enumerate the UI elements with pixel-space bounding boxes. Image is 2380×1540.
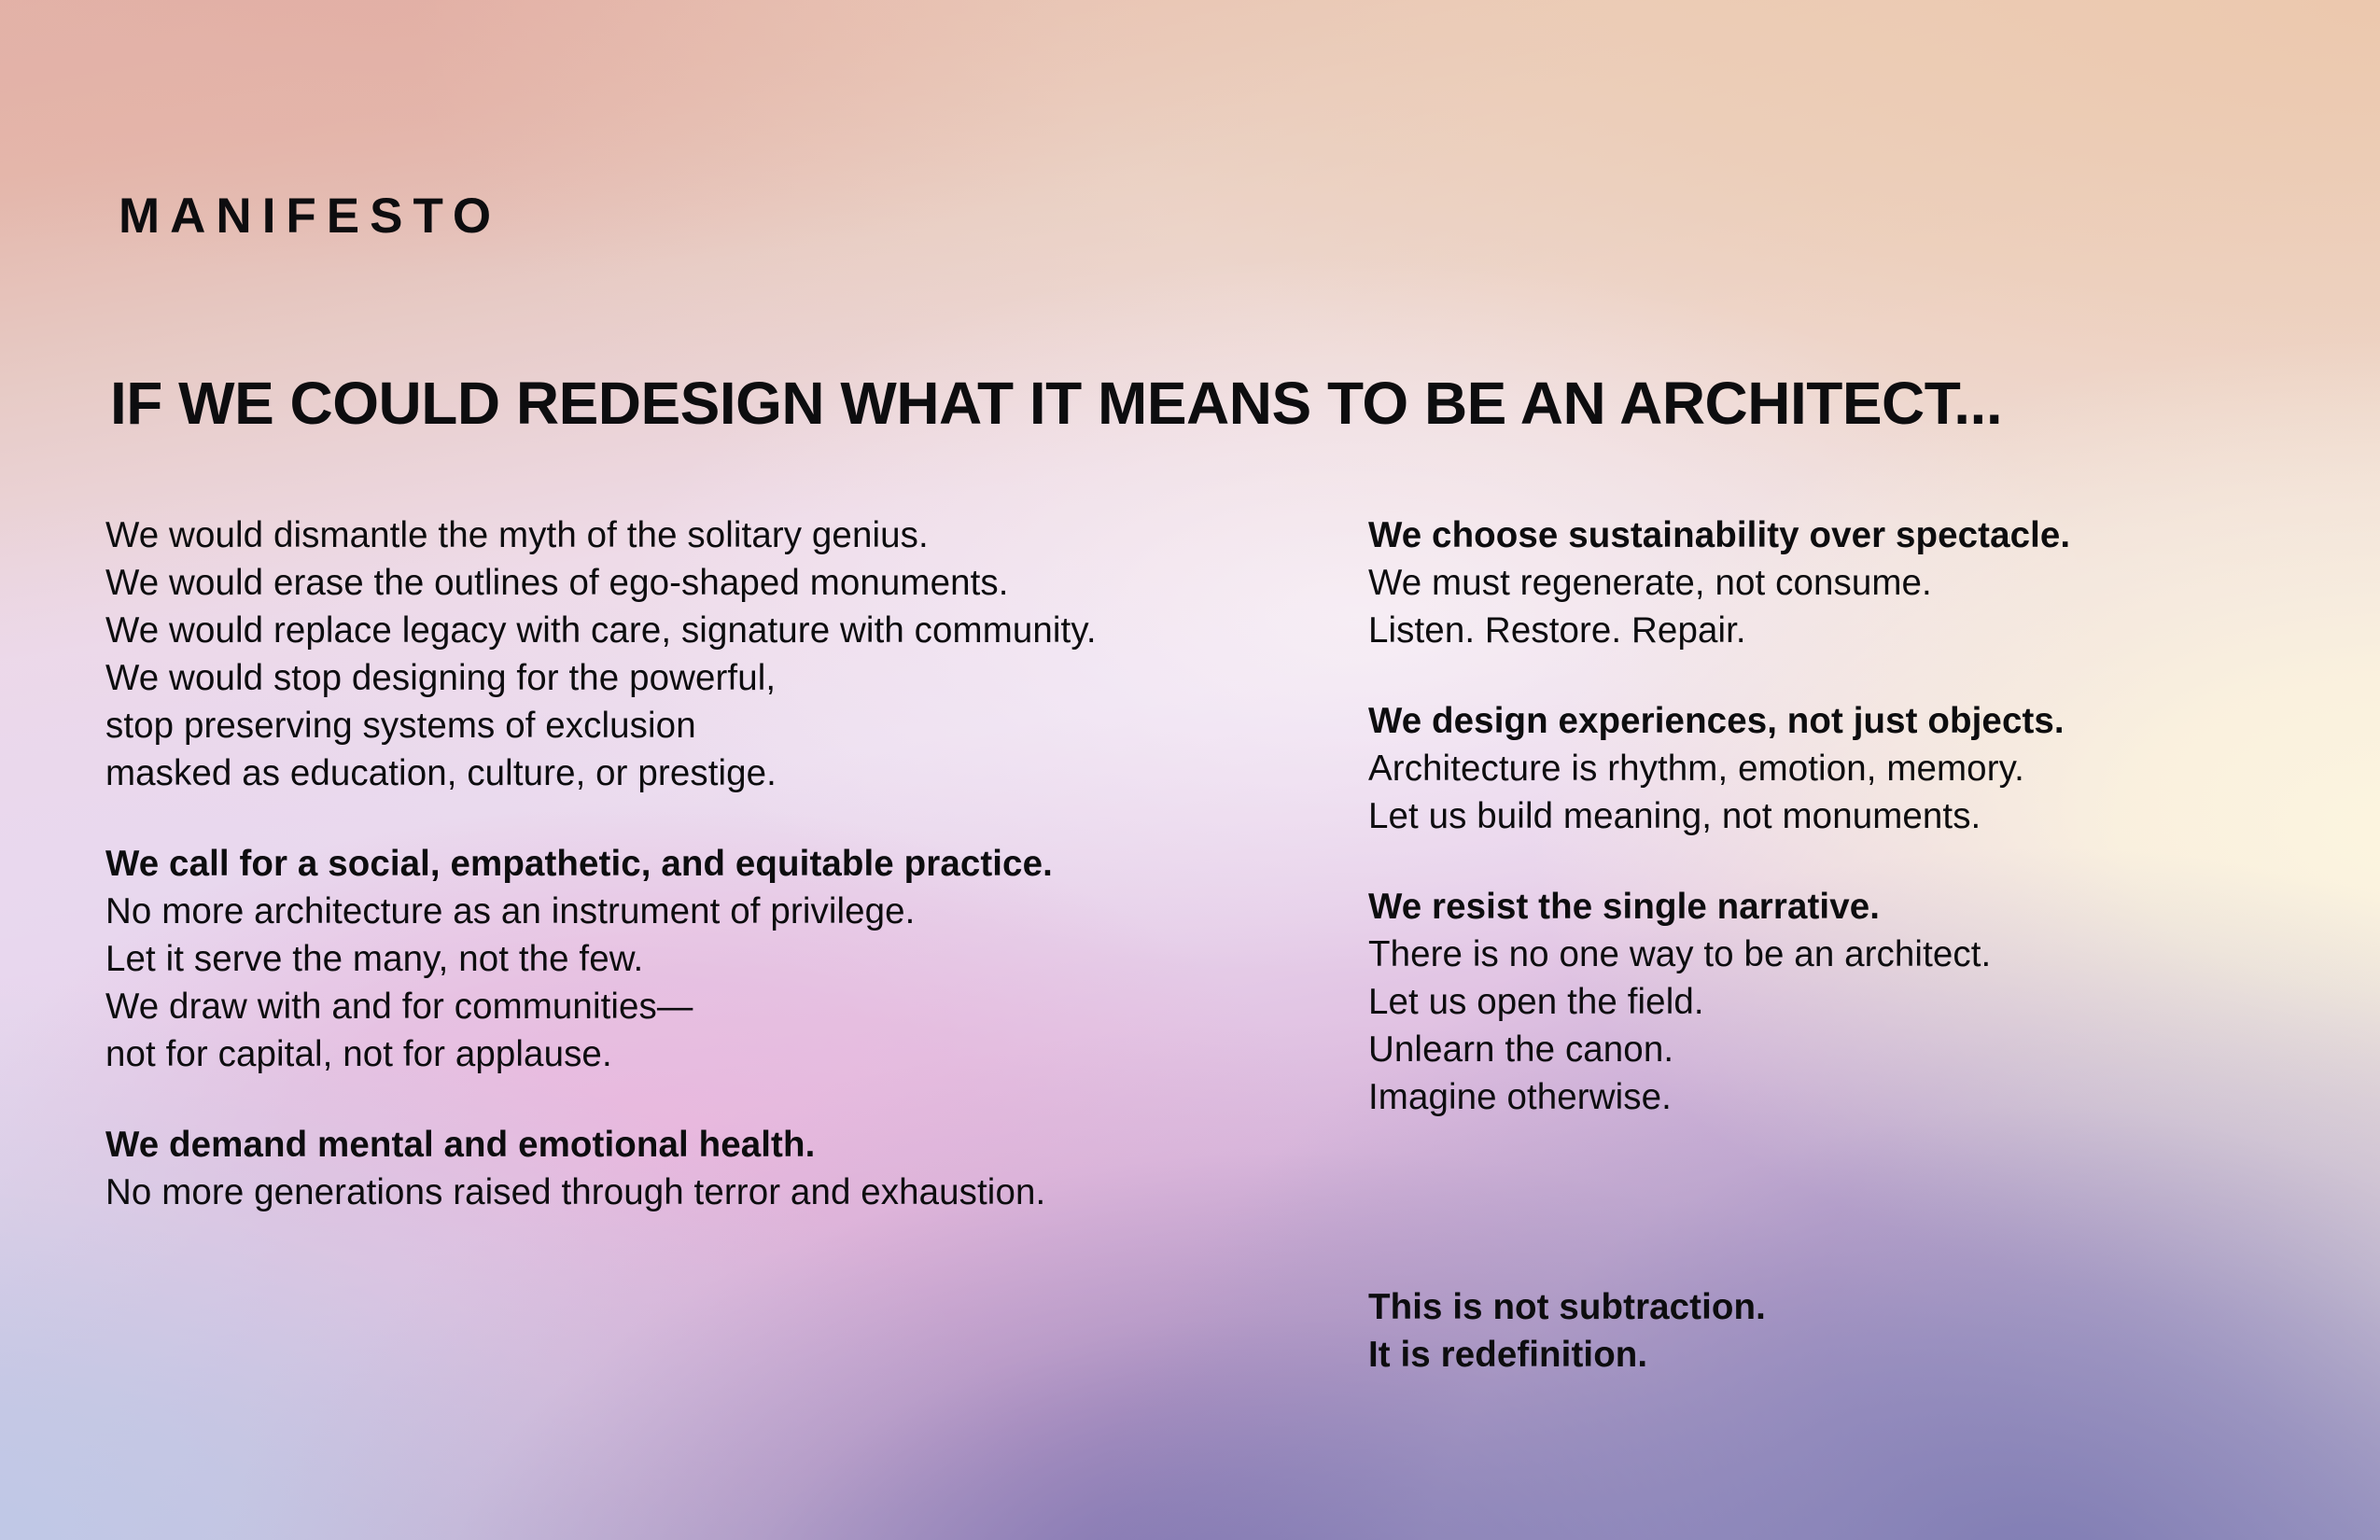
- manifesto-line: We would erase the outlines of ego-shape…: [105, 559, 1188, 607]
- manifesto-line: masked as education, culture, or prestig…: [105, 749, 1188, 797]
- manifesto-line: Let us build meaning, not monuments.: [1368, 792, 2302, 840]
- manifesto-statement: We demand mental and emotional health.: [105, 1121, 1188, 1169]
- manifesto-statement: We choose sustainability over spectacle.: [1368, 511, 2302, 559]
- page-title: IF WE COULD REDESIGN WHAT IT MEANS TO BE…: [110, 373, 2002, 433]
- kicker-label: MANIFESTO: [119, 191, 501, 241]
- manifesto-line: stop preserving systems of exclusion: [105, 702, 1188, 749]
- manifesto-column-left: We would dismantle the myth of the solit…: [105, 511, 1188, 1216]
- manifesto-block: We resist the single narrative.There is …: [1368, 883, 2302, 1121]
- manifesto-poster: MANIFESTO IF WE COULD REDESIGN WHAT IT M…: [0, 0, 2380, 1540]
- manifesto-statement: We resist the single narrative.: [1368, 883, 2302, 931]
- manifesto-column-right: We choose sustainability over spectacle.…: [1368, 511, 2302, 1379]
- manifesto-line: We must regenerate, not consume.: [1368, 559, 2302, 607]
- manifesto-line: Imagine otherwise.: [1368, 1073, 2302, 1121]
- block-spacer: [1368, 1164, 2302, 1283]
- manifesto-block: This is not subtraction.It is redefiniti…: [1368, 1283, 2302, 1379]
- manifesto-statement: This is not subtraction.: [1368, 1283, 2302, 1331]
- manifesto-line: Architecture is rhythm, emotion, memory.: [1368, 745, 2302, 792]
- manifesto-line: We would dismantle the myth of the solit…: [105, 511, 1188, 559]
- manifesto-block: We design experiences, not just objects.…: [1368, 697, 2302, 840]
- manifesto-statement: It is redefinition.: [1368, 1331, 2302, 1379]
- manifesto-block: We would dismantle the myth of the solit…: [105, 511, 1188, 797]
- manifesto-line: Let it serve the many, not the few.: [105, 935, 1188, 983]
- manifesto-line: No more architecture as an instrument of…: [105, 888, 1188, 935]
- manifesto-block: We demand mental and emotional health.No…: [105, 1121, 1188, 1216]
- manifesto-line: Unlearn the canon.: [1368, 1026, 2302, 1073]
- manifesto-block: We call for a social, empathetic, and eq…: [105, 840, 1188, 1078]
- manifesto-statement: We call for a social, empathetic, and eq…: [105, 840, 1188, 888]
- manifesto-statement: We design experiences, not just objects.: [1368, 697, 2302, 745]
- poster-content: MANIFESTO IF WE COULD REDESIGN WHAT IT M…: [0, 0, 2380, 1540]
- manifesto-line: not for capital, not for applause.: [105, 1030, 1188, 1078]
- manifesto-line: We draw with and for communities—: [105, 983, 1188, 1030]
- manifesto-block: We choose sustainability over spectacle.…: [1368, 511, 2302, 654]
- manifesto-line: We would stop designing for the powerful…: [105, 654, 1188, 702]
- manifesto-line: There is no one way to be an architect.: [1368, 931, 2302, 978]
- manifesto-line: We would replace legacy with care, signa…: [105, 607, 1188, 654]
- manifesto-line: Listen. Restore. Repair.: [1368, 607, 2302, 654]
- manifesto-line: Let us open the field.: [1368, 978, 2302, 1026]
- manifesto-line: No more generations raised through terro…: [105, 1169, 1188, 1216]
